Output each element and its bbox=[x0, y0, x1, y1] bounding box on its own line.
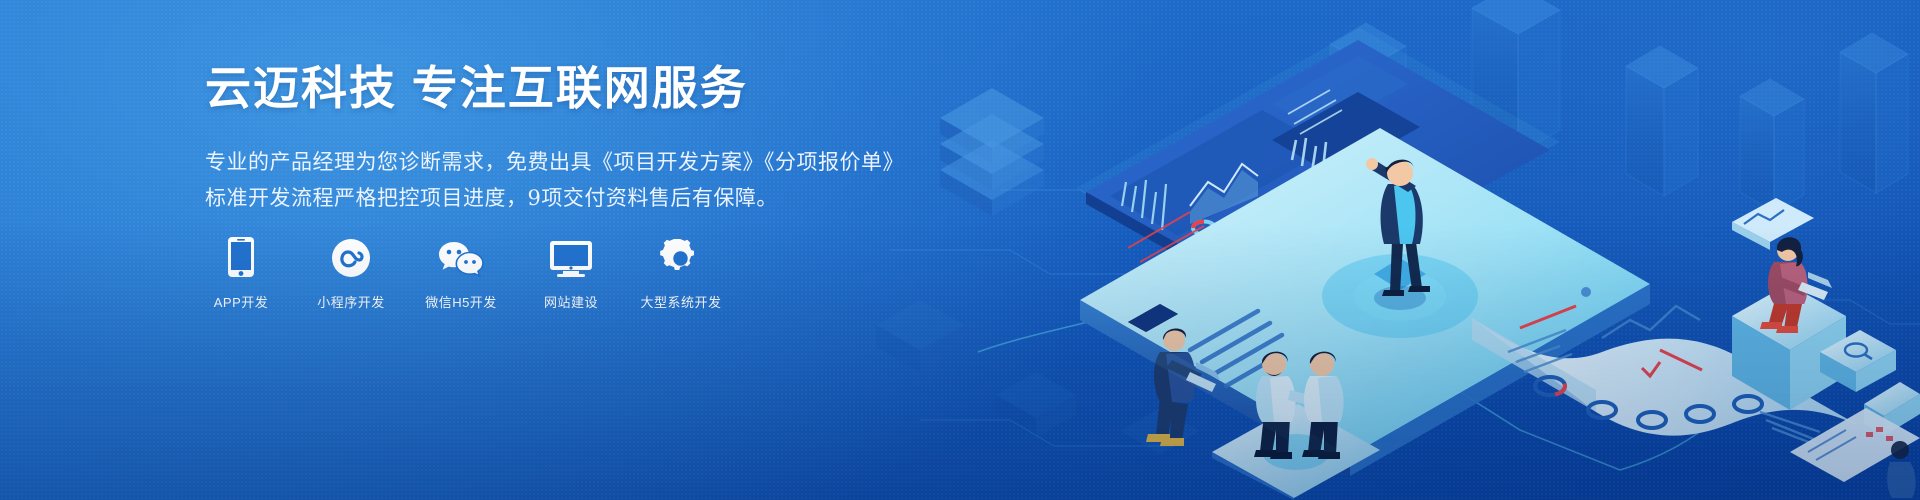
service-item-app[interactable]: APP开发 bbox=[205, 232, 277, 311]
subtitle-line-1: 专业的产品经理为您诊断需求，免费出具《项目开发方案》《分项报价单》 bbox=[205, 144, 905, 180]
gear-icon bbox=[660, 232, 702, 278]
hero-copy: 云迈科技 专注互联网服务 专业的产品经理为您诊断需求，免费出具《项目开发方案》《… bbox=[205, 60, 905, 216]
service-label: APP开发 bbox=[214, 292, 269, 311]
page-title: 云迈科技 专注互联网服务 bbox=[205, 60, 905, 118]
subtitle-line-2: 标准开发流程严格把控项目进度，9项交付资料售后有保障。 bbox=[205, 180, 905, 216]
service-item-website[interactable]: 网站建设 bbox=[535, 232, 607, 311]
wechat-icon bbox=[438, 232, 484, 278]
service-list: APP开发 小程序开发 bbox=[205, 232, 717, 311]
server-stack bbox=[940, 88, 1044, 216]
service-label: 微信H5开发 bbox=[425, 292, 497, 311]
isometric-illustration bbox=[860, 0, 1920, 500]
service-item-wechat-h5[interactable]: 微信H5开发 bbox=[425, 232, 497, 311]
service-item-large-system[interactable]: 大型系统开发 bbox=[645, 232, 717, 311]
service-label: 大型系统开发 bbox=[641, 292, 722, 311]
service-item-miniprogram[interactable]: 小程序开发 bbox=[315, 232, 387, 311]
service-label: 小程序开发 bbox=[317, 292, 385, 311]
mobile-phone-icon bbox=[227, 232, 255, 278]
hero-banner: 云迈科技 专注互联网服务 专业的产品经理为您诊断需求，免费出具《项目开发方案》《… bbox=[0, 0, 1920, 500]
small-person-bottom-right bbox=[1887, 441, 1915, 498]
mini-program-icon bbox=[331, 232, 371, 278]
monitor-icon bbox=[549, 232, 593, 278]
service-label: 网站建设 bbox=[544, 292, 598, 311]
